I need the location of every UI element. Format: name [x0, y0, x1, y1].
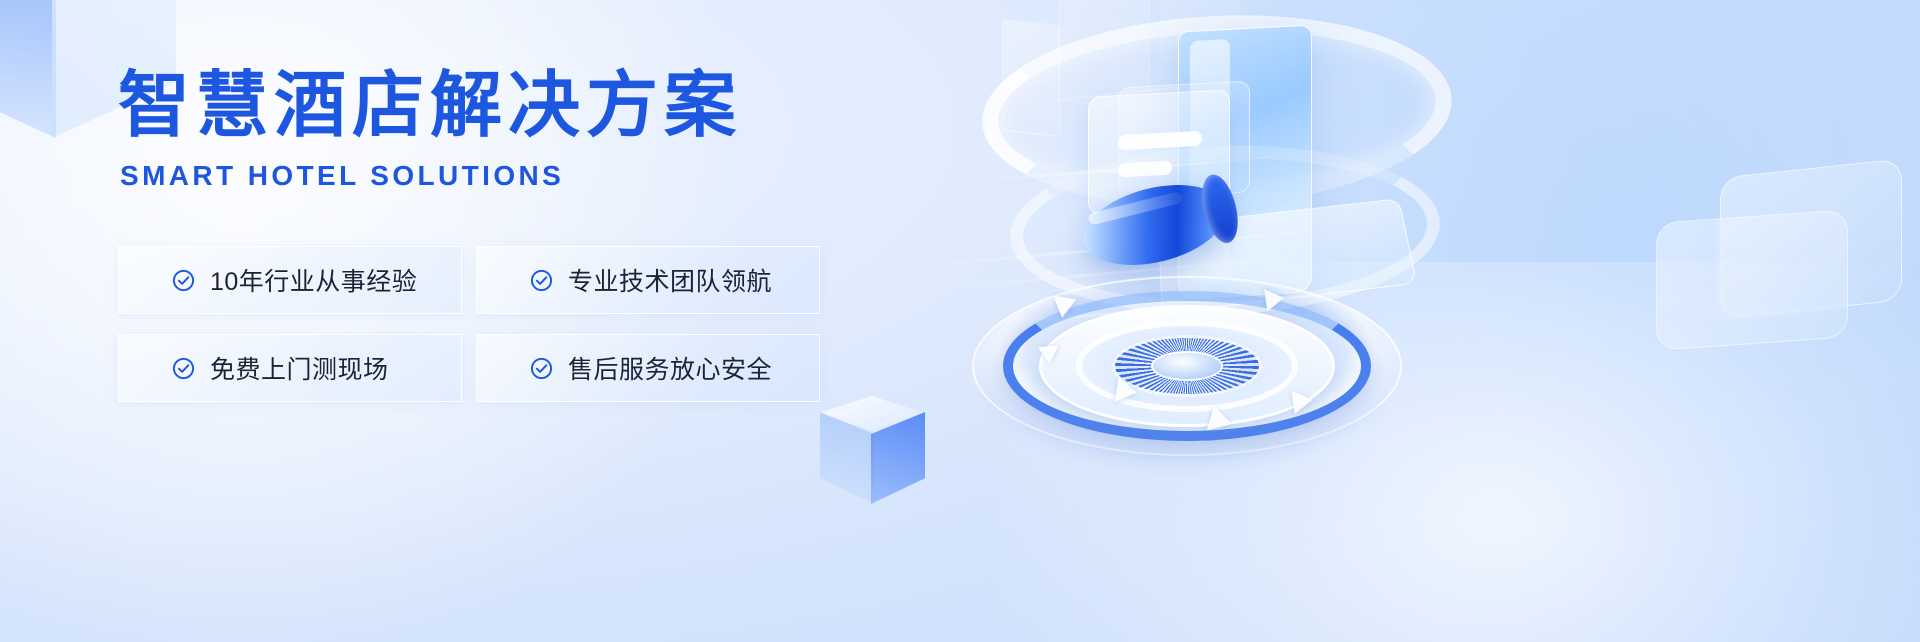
feature-badge: 售后服务放心安全 [476, 334, 820, 402]
circle-check-icon [171, 356, 196, 381]
circle-check-icon [529, 356, 554, 381]
light-streak [980, 298, 1309, 324]
circle-check-icon [529, 268, 554, 293]
info-card-shadow [1118, 81, 1250, 200]
banner-content: 智慧酒店解决方案 SMART HOTEL SOLUTIONS 10年行业从事经验 [118, 70, 878, 402]
light-streak [1011, 76, 1270, 106]
flow-arrow-icon [1038, 345, 1061, 365]
feature-badge: 10年行业从事经验 [118, 246, 462, 314]
platform-outer-ring [972, 276, 1402, 456]
cube-face-top [0, 0, 174, 32]
feature-badge: 免费上门测现场 [118, 334, 462, 402]
smart-hotel-banner: 智慧酒店解决方案 SMART HOTEL SOLUTIONS 10年行业从事经验 [0, 0, 1920, 642]
info-card-line [1118, 161, 1172, 178]
flow-arrow-icon [1292, 388, 1315, 414]
glass-ribbon-lower [1007, 139, 1443, 322]
turbine-platform [972, 256, 1402, 476]
glossy-cylinder [1075, 171, 1235, 278]
flow-arrow-icon [1264, 287, 1286, 311]
light-streak [956, 155, 1285, 184]
feature-badge-label: 专业技术团队领航 [568, 262, 772, 298]
flow-arrow-icon [1207, 405, 1235, 436]
background-block-icon [1002, 19, 1060, 137]
platform-turbine-core [1112, 335, 1262, 397]
flow-arrow-icon [1115, 377, 1139, 404]
background-glow-bottom [998, 262, 1920, 642]
cube-face-top [818, 396, 926, 456]
feature-badge-list: 10年行业从事经验 专业技术团队领航 免费上 [118, 246, 878, 402]
banner-subtitle: SMART HOTEL SOLUTIONS [120, 160, 878, 192]
floating-glass-panel [1720, 158, 1902, 319]
glass-slab-highlight [1190, 39, 1230, 285]
platform-blue-ring [1003, 291, 1371, 441]
feature-badge: 专业技术团队领航 [476, 246, 820, 314]
feature-badge-label: 售后服务放心安全 [568, 350, 772, 386]
platform-hub [1151, 351, 1223, 381]
background-block-icon [1058, 0, 1150, 112]
light-streak [921, 228, 1340, 268]
feature-badge-label: 免费上门测现场 [210, 350, 389, 386]
info-card-line [1118, 131, 1202, 150]
hero-illustration [860, 0, 1920, 642]
feature-badge-label: 10年行业从事经验 [210, 262, 417, 298]
background-glow-right [1020, 0, 1920, 642]
flow-arrow-icon [1053, 288, 1081, 318]
platform-inner-ring [1076, 320, 1298, 412]
cube-face-left [820, 412, 874, 504]
info-card [1088, 89, 1230, 214]
decorative-cube-bottom [818, 396, 926, 512]
platform-white-disc [1039, 305, 1335, 427]
cube-face-right [871, 412, 925, 504]
floating-glass-panel [1656, 209, 1848, 350]
cube-face-left [0, 0, 56, 138]
curved-glass-band [1158, 198, 1417, 314]
background-block-icon [1160, 0, 1240, 70]
circle-check-icon [171, 268, 196, 293]
glass-ribbon-upper [977, 4, 1456, 218]
glass-slab [1178, 24, 1312, 299]
light-streak [941, 253, 1320, 289]
banner-title: 智慧酒店解决方案 [118, 70, 878, 142]
